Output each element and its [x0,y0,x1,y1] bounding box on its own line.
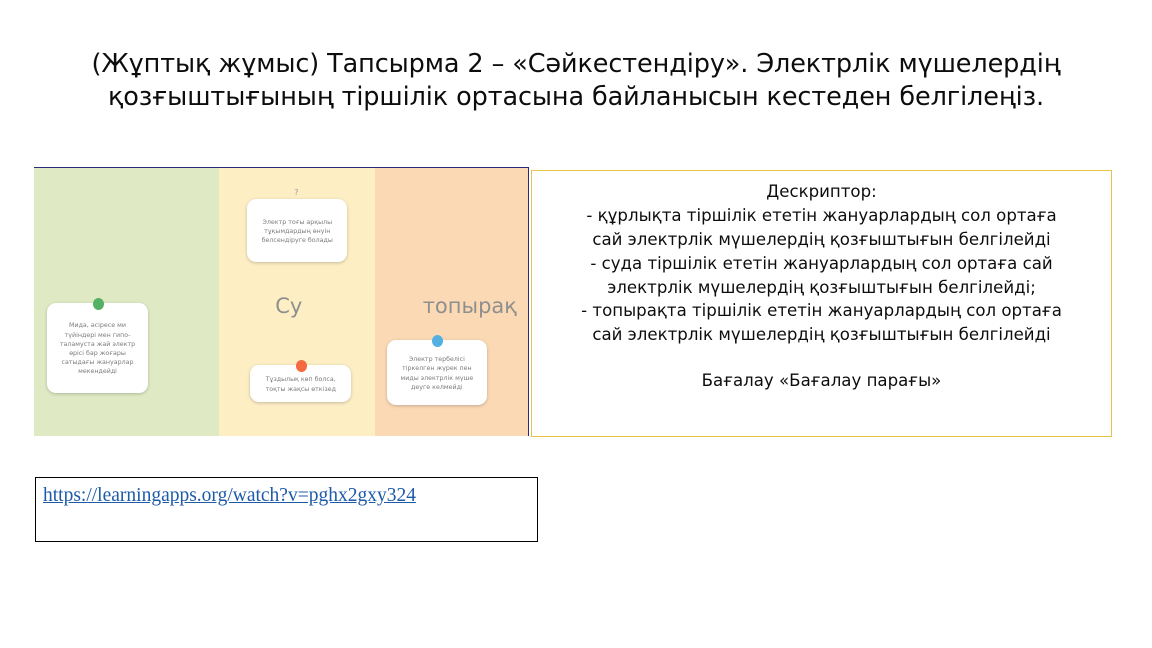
note-card-land[interactable]: Мида, әсіресе ми түйіндері мен гипо-тала… [47,303,148,393]
descriptor-line-3: - суда тіршілік ететін жануарлардың сол … [544,252,1099,276]
board-label-water: Су [275,294,302,318]
descriptor-box: Дескриптор: - құрлықта тіршілік ететін ж… [531,170,1112,437]
learningapps-link[interactable]: https://learningapps.org/watch?v=pghx2gx… [43,485,416,506]
descriptor-footer: Бағалау «Бағалау парағы» [544,369,1099,393]
pin-green-icon [93,298,104,310]
page-title-line-1: (Жұптық жұмыс) Тапсырма 2 – «Сәйкестенді… [72,48,1080,81]
board-label-soil: топырақ [423,294,517,318]
descriptor-spacer [544,347,1099,369]
matching-activity-board: Мида, әсіресе ми түйіндері мен гипо-тала… [34,167,529,436]
board-column-water: Су ? Электр тоғы арқылы тұқымдардың өнуі… [219,168,375,436]
note-card-soil-text: Электр тербелісі тіркелген жүрек пен мид… [393,355,481,392]
descriptor-line-4: электрлік мүшелердің қозғыштығын белгіле… [544,276,1099,300]
page-title-line-2: қозғыштығының тіршілік ортасына байланыс… [72,81,1080,114]
page-title: (Жұптық жұмыс) Тапсырма 2 – «Сәйкестенді… [72,48,1080,114]
descriptor-line-6: сай электрлік мүшелердің қозғыштығын бел… [544,323,1099,347]
descriptor-line-5: - топырақта тіршілік ететін жануарлардың… [544,299,1099,323]
board-column-soil: топырақ Электр тербелісі тіркелген жүрек… [375,168,528,436]
pin-red-icon [296,360,307,372]
note-card-water-bottom[interactable]: Тұздылық көп болса, тоқты жақсы өткізед [250,365,351,402]
pin-blue-icon [432,335,443,347]
note-card-soil[interactable]: Электр тербелісі тіркелген жүрек пен мид… [387,340,487,405]
note-card-water-top[interactable]: ? Электр тоғы арқылы тұқымдардың өнуін б… [247,199,347,262]
note-card-water-top-text: Электр тоғы арқылы тұқымдардың өнуін бел… [253,218,341,246]
descriptor-heading: Дескриптор: [544,180,1099,204]
descriptor-line-2: сай электрлік мүшелердің қозғыштығын бел… [544,228,1099,252]
descriptor-line-1: - құрлықта тіршілік ететін жануарлардың … [544,204,1099,228]
question-mark-icon: ? [294,187,298,199]
board-column-land: Мида, әсіресе ми түйіндері мен гипо-тала… [34,168,219,436]
note-card-land-text: Мида, әсіресе ми түйіндері мен гипо-тала… [53,321,142,376]
note-card-water-bottom-text: Тұздылық көп болса, тоқты жақсы өткізед [256,375,345,393]
url-box: https://learningapps.org/watch?v=pghx2gx… [35,477,538,542]
